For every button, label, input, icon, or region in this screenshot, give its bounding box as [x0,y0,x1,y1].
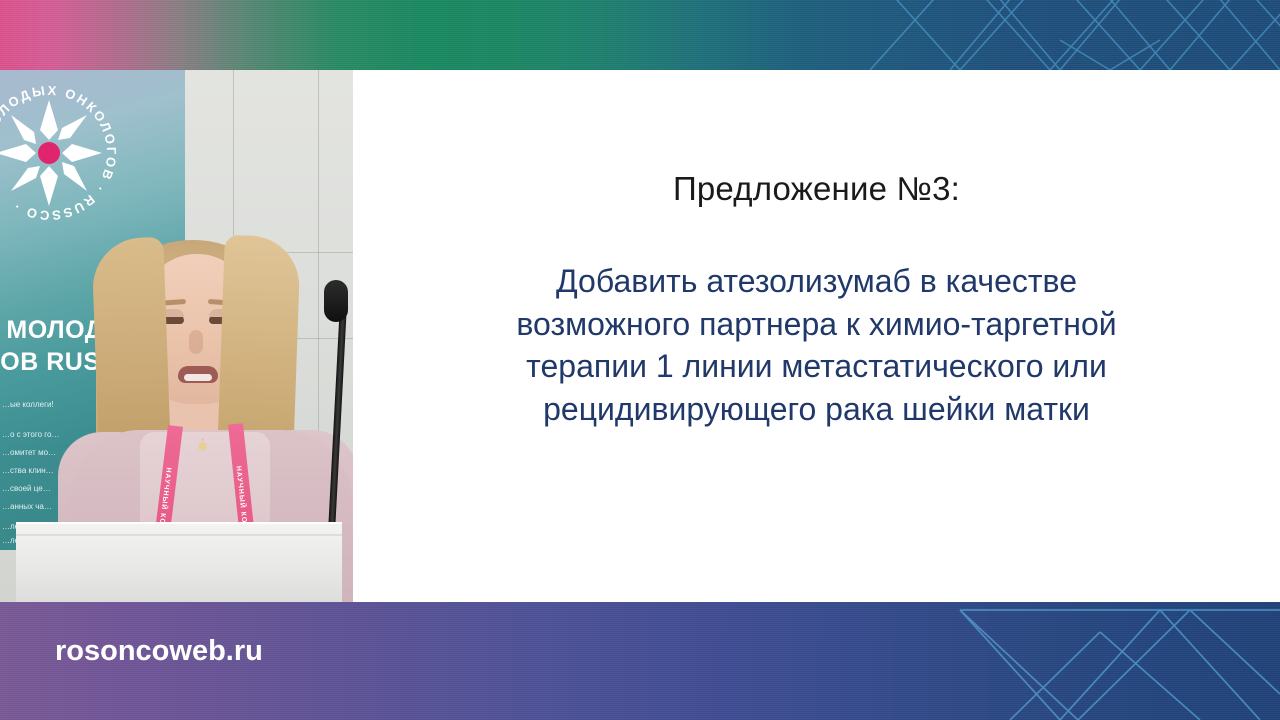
speaker-mouth [178,366,218,383]
banner-small-text: …омитет мо… [2,448,56,457]
podium-edge [16,534,342,536]
slide-title: Предложение №3: [353,170,1280,208]
presentation-slide: Предложение №3: Добавить атезолизумаб в … [353,70,1280,602]
top-brand-banner [0,0,1280,70]
speaker-podium [16,522,342,602]
slide-body-line: Добавить атезолизумаб в качестве [393,260,1240,303]
slide-body-line: возможного партнера к химио-таргетной [393,303,1240,346]
speaker-nose [189,330,203,354]
slide-body-line: терапии 1 линии метастатического или [393,345,1240,388]
banner-small-text: …ые коллеги! [2,400,54,409]
zigzag-pattern-bottom [760,602,1280,720]
website-url-label: rosoncoweb.ru [55,635,263,668]
banner-small-text: …о с этого го… [2,430,59,439]
zigzag-pattern-top [810,0,1280,70]
slide-body-line: рецидивирующего рака шейки матки [393,388,1240,431]
microphone-head-icon [324,280,348,322]
footer-bar: rosoncoweb.ru [0,602,1280,720]
slide-body-text: Добавить атезолизумаб в качестве возможн… [393,260,1240,430]
speaker-video-panel[interactable]: МОЛОДЫХ ОНКОЛОГОВ · RUSSCO · Е [0,70,353,602]
speaker-necklace [198,442,207,451]
banner-small-text: …своей це… [2,484,51,493]
banner-small-text: …анных ча… [2,502,52,511]
banner-small-text: …ства клин… [2,466,54,475]
video-player-frame: МОЛОДЫХ ОНКОЛОГОВ · RUSSCO · Е [0,0,1280,720]
